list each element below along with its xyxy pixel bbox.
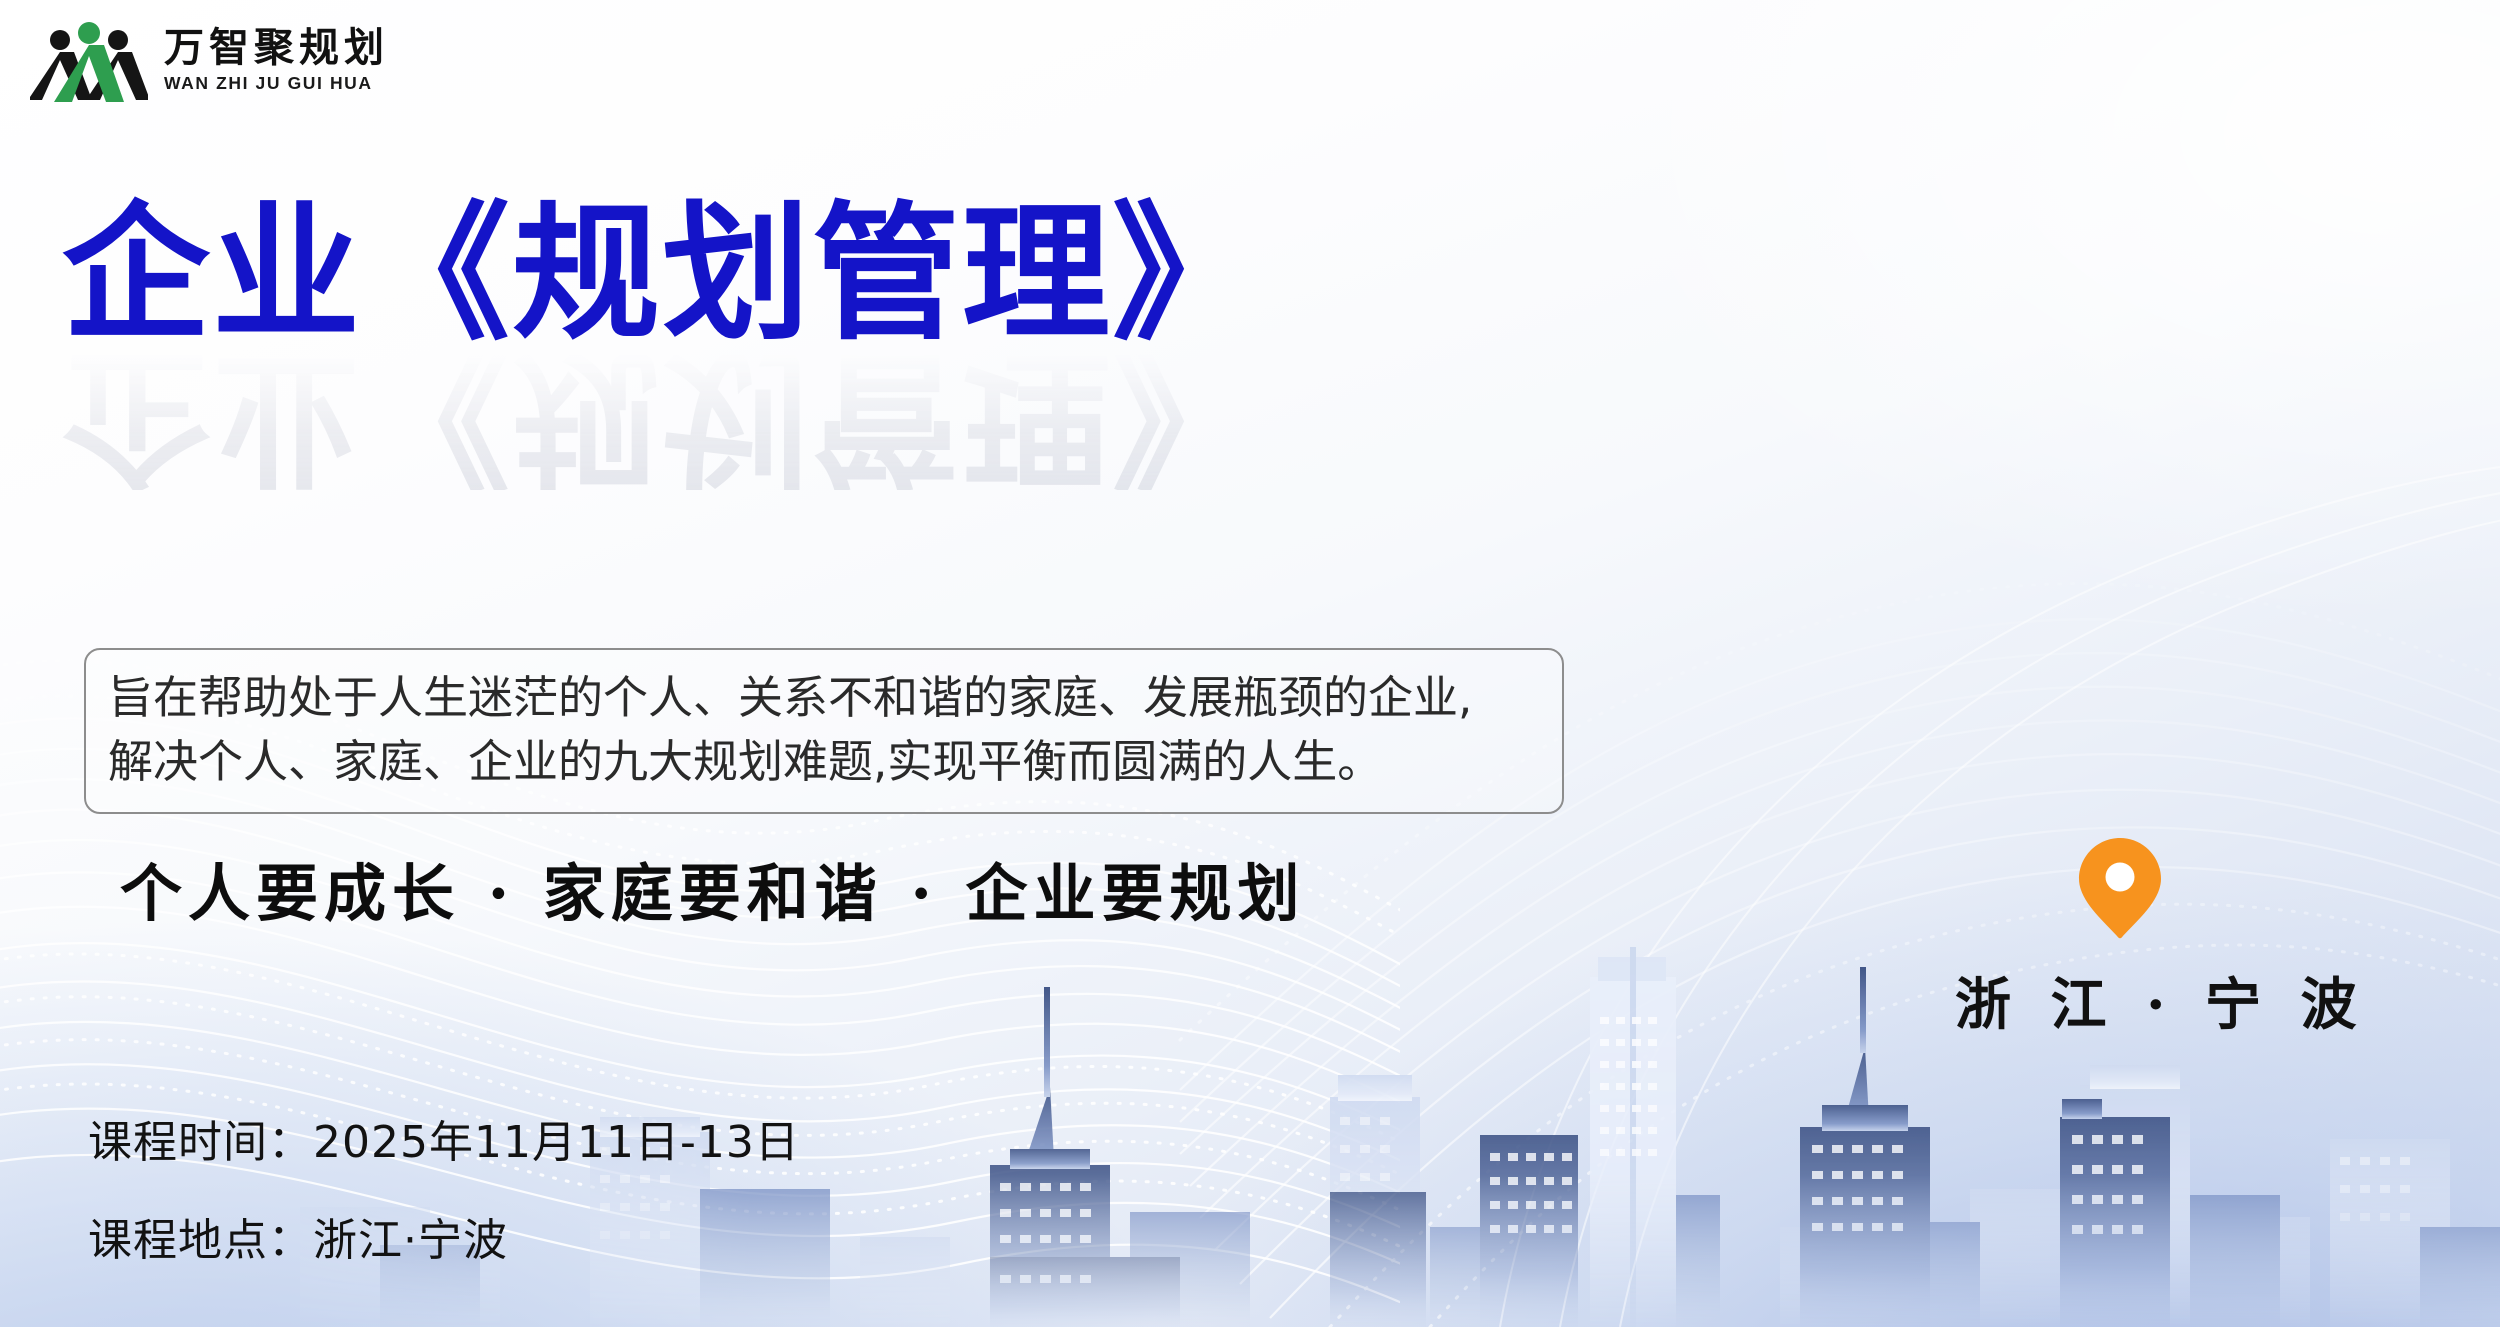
brand-name-en: WAN ZHI JU GUI HUA [164, 75, 389, 93]
course-time: 课程时间：2025年11月11日-13日 [88, 1106, 800, 1170]
three-people-logo-icon [30, 14, 148, 106]
location-name: 浙 江 · 宁 波 [1955, 960, 2285, 1041]
description-box: 旨在帮助处于人生迷茫的个人、关系不和谐的家庭、发展瓶颈的企业, 解决个人、家庭、… [84, 648, 1564, 814]
poster-canvas: 万智聚规划 WAN ZHI JU GUI HUA 企业《规划管理》 企业《规划管… [0, 0, 2500, 1327]
map-pin-icon [2077, 836, 2163, 940]
course-info: 课程时间：2025年11月11日-13日 课程地点：浙江·宁波 [88, 1106, 800, 1268]
page-title-reflection: 企业《规划管理》 [62, 342, 1562, 490]
brand-name-cn: 万智聚规划 [164, 28, 389, 68]
page-title: 企业《规划管理》 [62, 200, 1562, 348]
course-place: 课程地点：浙江·宁波 [88, 1204, 800, 1268]
location-badge: 浙 江 · 宁 波 [1955, 836, 2285, 1041]
description-line-2: 解决个人、家庭、企业的九大规划难题,实现平衡而圆满的人生。 [108, 730, 1540, 794]
tagline: 个人要成长 · 家庭要和谐 · 企业要规划 [120, 843, 1306, 933]
brand-logo-text: 万智聚规划 WAN ZHI JU GUI HUA [164, 28, 389, 93]
brand-logo[interactable]: 万智聚规划 WAN ZHI JU GUI HUA [30, 14, 389, 106]
description-line-1: 旨在帮助处于人生迷茫的个人、关系不和谐的家庭、发展瓶颈的企业, [108, 666, 1540, 730]
hero-title-block: 企业《规划管理》 企业《规划管理》 [62, 200, 1562, 490]
